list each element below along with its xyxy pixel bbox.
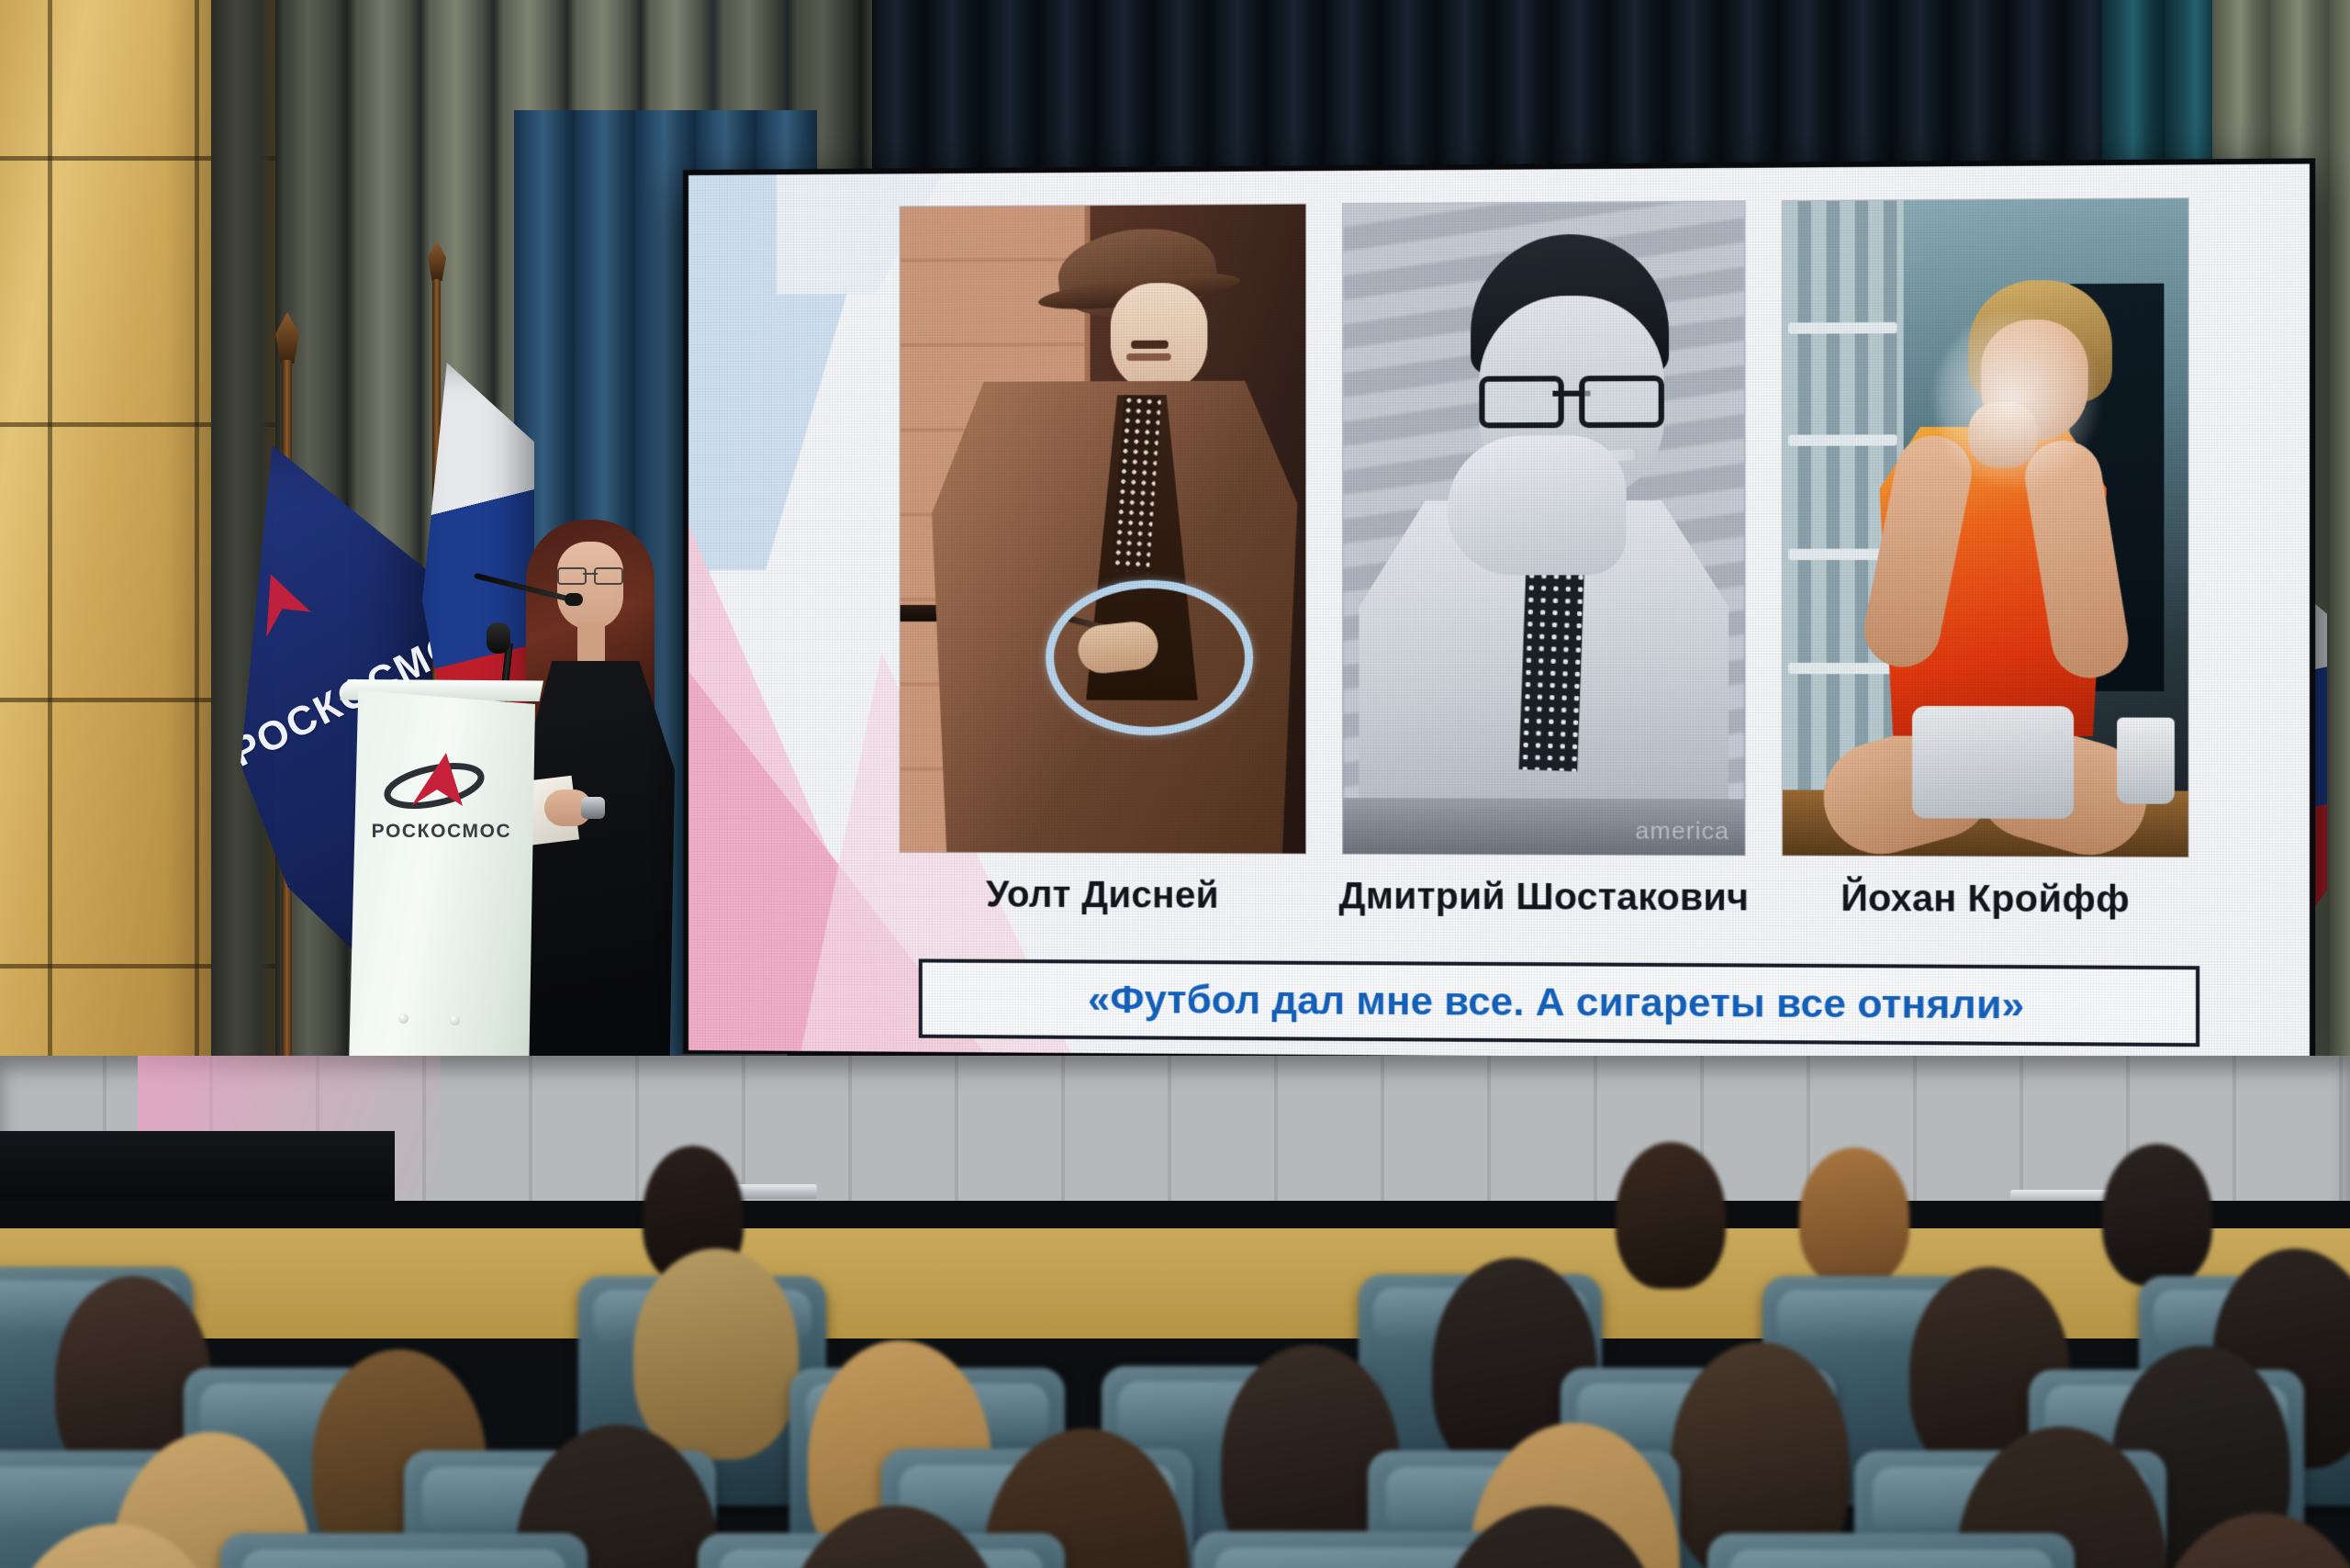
wristwatch-icon [581, 797, 605, 819]
round-glasses-icon [1479, 375, 1663, 417]
auditorium-scene: РОСКОСМОС РОСКОСМОС [0, 0, 2350, 1568]
roscosmos-logo-icon [378, 749, 490, 815]
caption-johan-cruyff: Йохан Кройфф [1775, 878, 2196, 922]
quote-box: «Футбол дал мне все. А сигареты все отня… [919, 958, 2199, 1047]
audience-head [2102, 1144, 2212, 1286]
audience-head [1799, 1148, 1909, 1285]
photo-watermark: america [1635, 816, 1729, 846]
podium-brand-label: РОСКОСМОС [364, 821, 520, 843]
audience-seat [1707, 1533, 2075, 1568]
audience-seat [220, 1533, 587, 1568]
led-presentation-screen[interactable]: america [683, 158, 2315, 1067]
audience-head [633, 1249, 799, 1460]
caption-walt-disney: Уолт Дисней [901, 874, 1306, 917]
photo-captions: Уолт Дисней Дмитрий Шостакович Йохан Кро… [688, 873, 2310, 955]
walt-disney-photo [901, 205, 1306, 854]
johan-cruyff-photo [1783, 198, 2188, 857]
glasses-icon [557, 567, 623, 581]
audience-head [1616, 1142, 1726, 1289]
slide-canvas: america [688, 164, 2310, 1062]
dmitri-shostakovich-photo: america [1343, 201, 1745, 855]
presenter-face [557, 542, 623, 630]
audience-seating [0, 1138, 2350, 1568]
highlight-ellipse [1046, 580, 1253, 736]
cigarette-smoke [1936, 310, 2098, 489]
quote-text: «Футбол дал мне все. А сигареты все отня… [1088, 977, 2024, 1028]
caption-dmitri-shostakovich: Дмитрий Шостакович [1328, 876, 1760, 920]
